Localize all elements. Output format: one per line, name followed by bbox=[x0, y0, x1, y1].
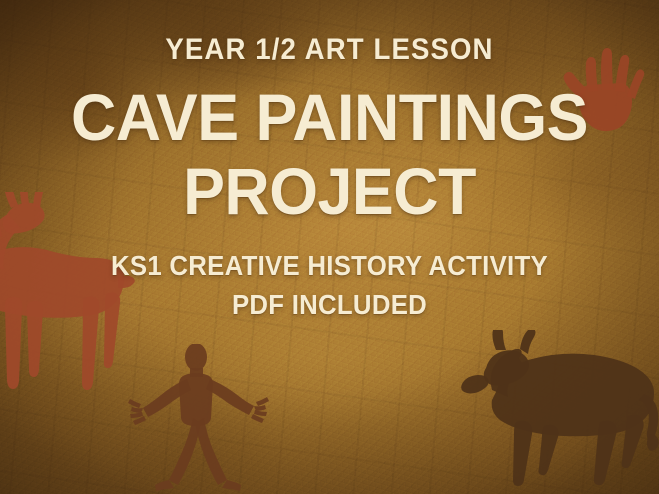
eyebrow-text: YEAR 1/2 ART LESSON bbox=[26, 35, 632, 65]
human-figure-icon bbox=[124, 344, 274, 494]
page-title-line-2: PROJECT bbox=[16, 158, 642, 224]
poster-text-block: YEAR 1/2 ART LESSON CAVE PAINTINGS PROJE… bbox=[0, 0, 659, 319]
bull-icon bbox=[458, 330, 659, 486]
cave-paintings-poster: YEAR 1/2 ART LESSON CAVE PAINTINGS PROJE… bbox=[0, 0, 659, 494]
subtitle-line-2: PDF INCLUDED bbox=[26, 291, 632, 319]
page-title-line-1: CAVE PAINTINGS bbox=[16, 84, 642, 150]
subtitle-line-1: KS1 CREATIVE HISTORY ACTIVITY bbox=[26, 252, 632, 280]
